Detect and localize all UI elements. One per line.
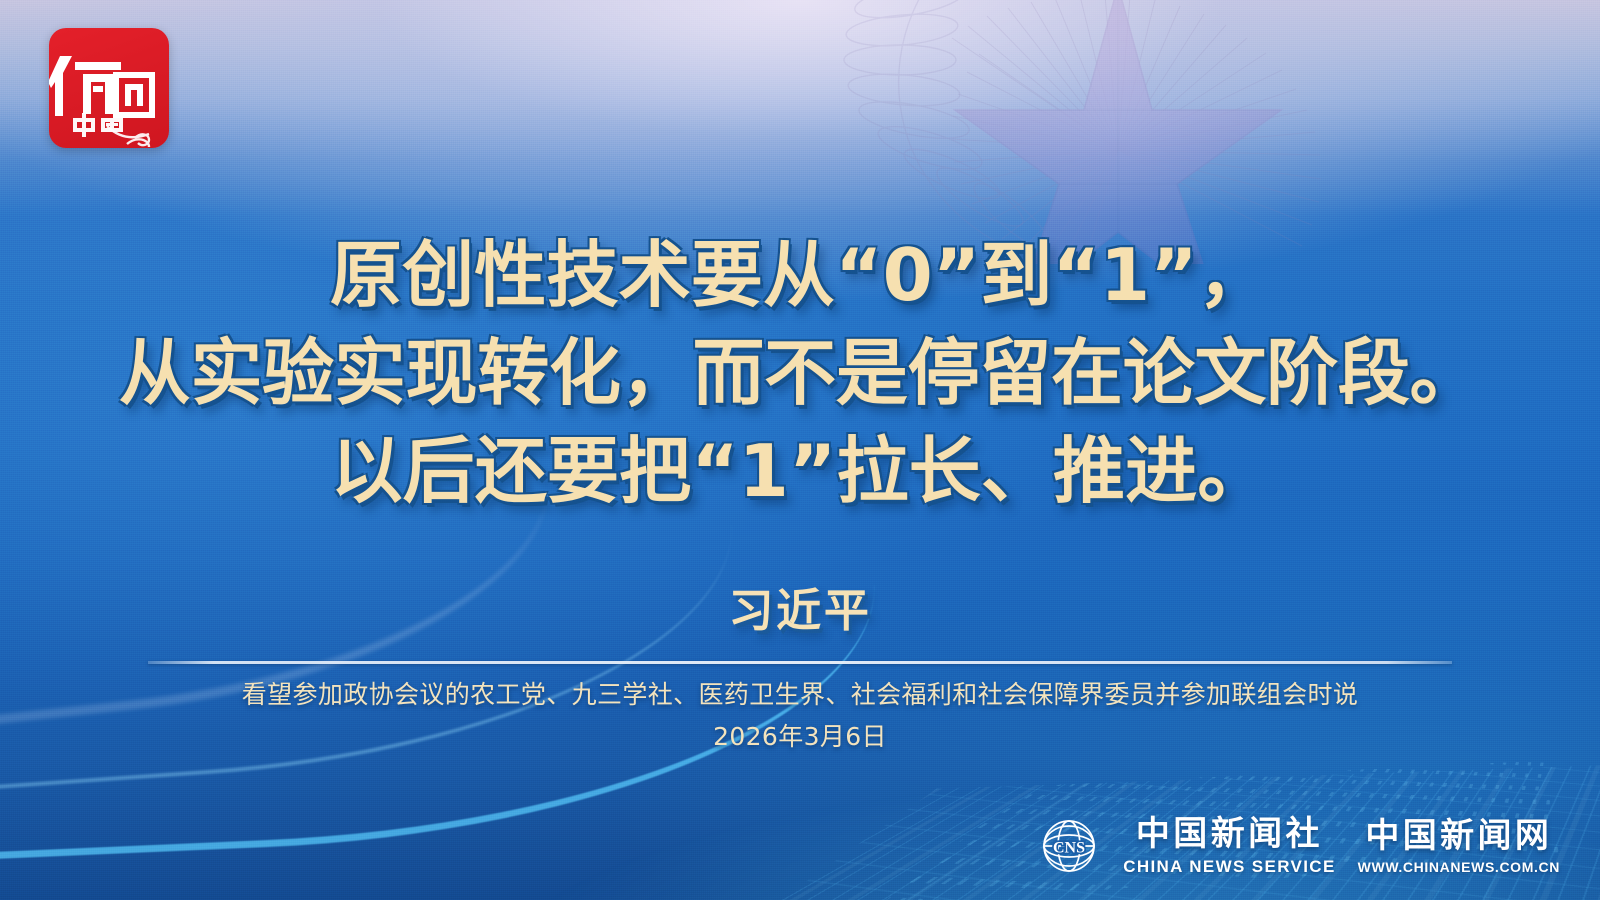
quote-line-3: 以后还要把“1”拉长、推进。 bbox=[0, 422, 1600, 520]
caption-block: 看望参加政协会议的农工党、九三学社、医药卫生界、社会福利和社会保障界委员并参加联… bbox=[0, 674, 1600, 758]
quote-line-1: 原创性技术要从“0”到“1”， bbox=[0, 226, 1600, 324]
caption-date: 2026年3月6日 bbox=[0, 716, 1600, 758]
cns-agency-cn: 中国新闻社 bbox=[1136, 817, 1323, 851]
divider-line bbox=[148, 661, 1452, 664]
quote-attribution: 习近平 bbox=[0, 574, 1600, 639]
quote-line-2: 从实验实现转化，而不是停留在论文阶段。 bbox=[0, 324, 1600, 422]
cns-footer: CNS 中国新闻社 CHINA NEWS SERVICE 中国新闻网 WWW.C… bbox=[1037, 814, 1560, 878]
brand-logo-jinguanzhongguo[interactable] bbox=[49, 28, 169, 148]
cns-globe-icon: CNS bbox=[1037, 814, 1101, 878]
cns-website-en: WWW.CHINANEWS.COM.CN bbox=[1358, 860, 1560, 874]
cns-website[interactable]: 中国新闻网 WWW.CHINANEWS.COM.CN bbox=[1358, 819, 1560, 874]
poster-canvas: 原创性技术要从“0”到“1”， 从实验实现转化，而不是停留在论文阶段。 以后还要… bbox=[0, 0, 1600, 900]
cns-website-cn: 中国新闻网 bbox=[1365, 819, 1552, 853]
svg-text:CNS: CNS bbox=[1053, 840, 1085, 857]
quote-block: 原创性技术要从“0”到“1”， 从实验实现转化，而不是停留在论文阶段。 以后还要… bbox=[0, 226, 1600, 520]
cns-agency-en: CHINA NEWS SERVICE bbox=[1123, 858, 1335, 875]
cns-agency: 中国新闻社 CHINA NEWS SERVICE bbox=[1123, 817, 1335, 875]
caption-occasion: 看望参加政协会议的农工党、九三学社、医药卫生界、社会福利和社会保障界委员并参加联… bbox=[242, 680, 1359, 709]
